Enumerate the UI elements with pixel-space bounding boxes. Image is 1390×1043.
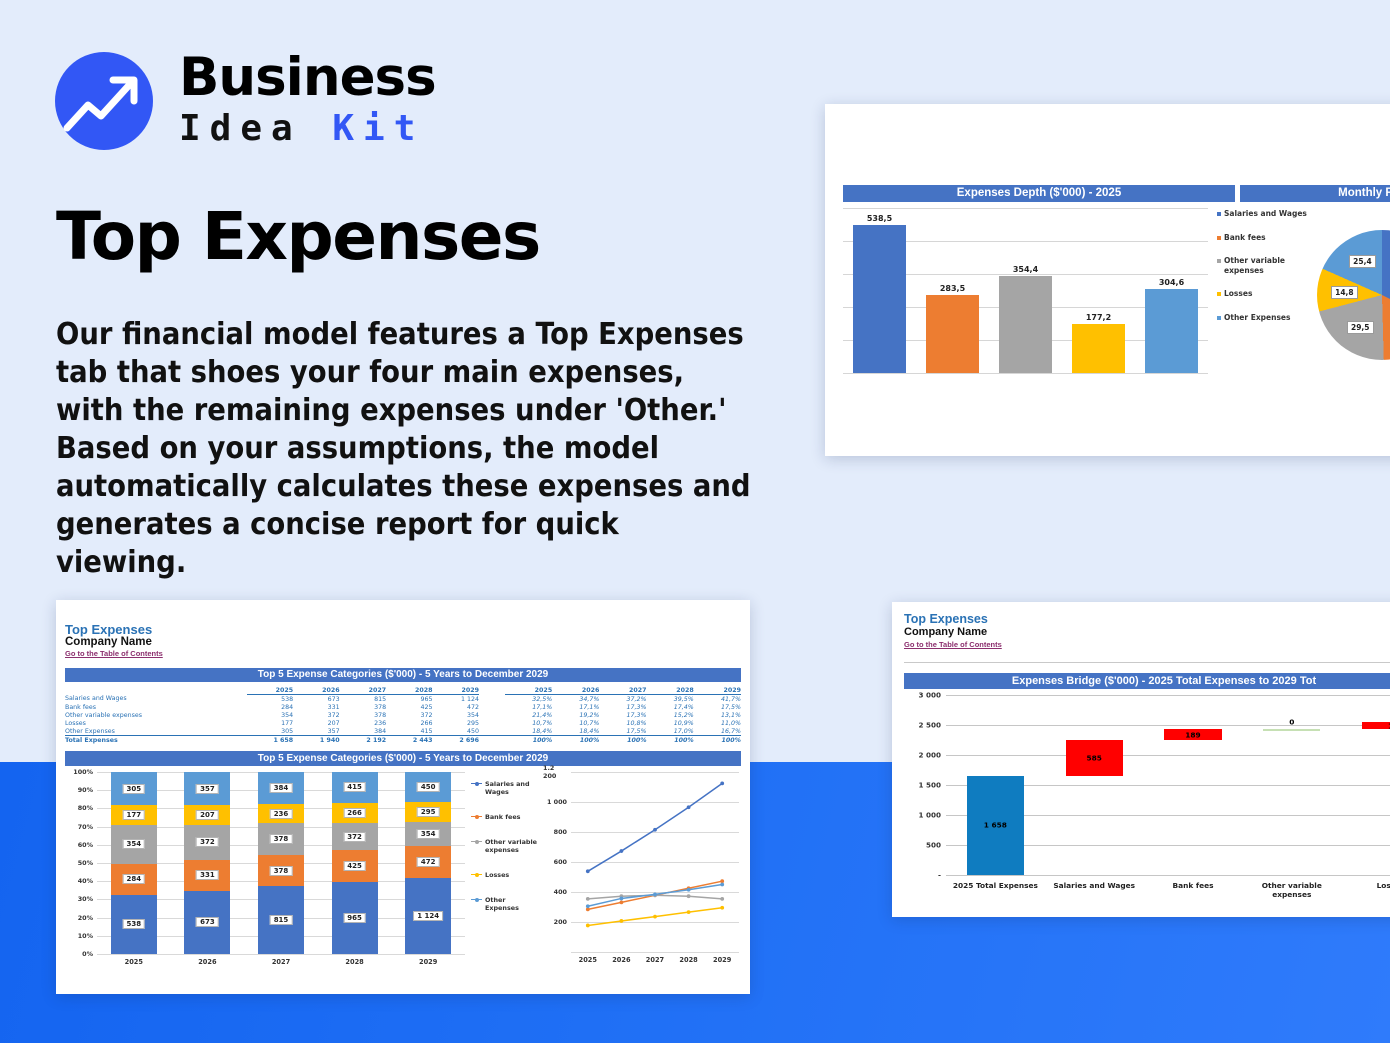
y-tick-label: 2 000 <box>918 751 941 760</box>
cell-value: 207 <box>293 719 339 727</box>
segment-value-label: 354 <box>417 829 440 839</box>
segment-value-label: 266 <box>343 808 366 818</box>
cell-pct: 17,3% <box>599 703 646 711</box>
cell-pct: 17,0% <box>647 727 694 736</box>
segment-value-label: 331 <box>196 870 219 880</box>
y-tick-label: - <box>938 871 941 880</box>
y-tick-label: 70% <box>78 823 93 831</box>
top5-expense-table: 2025202620272028202920252026202720282029… <box>65 686 741 744</box>
cell-value: 2 696 <box>433 736 479 745</box>
cell-value: 965 <box>386 695 432 704</box>
y-tick-label: 60% <box>78 841 93 849</box>
gridline <box>843 373 1208 374</box>
brand-idea-text: Idea <box>179 108 332 149</box>
y-tick-label: 50% <box>78 859 93 867</box>
pie-value-label: 29,5 <box>1347 321 1374 334</box>
cell-pct: 10,7% <box>505 719 552 727</box>
cell-value: 378 <box>340 711 386 719</box>
company-name: Company Name <box>65 636 152 648</box>
legend-item: Bank fees <box>471 813 541 821</box>
segment-value-label: 815 <box>270 915 293 925</box>
legend-label: Bank fees <box>1224 233 1266 243</box>
legend-line-marker <box>471 814 482 819</box>
table-row: Bank fees28433137842547217,1%17,1%17,3%1… <box>65 703 741 711</box>
line-plot-area <box>571 772 739 952</box>
segment-value-label: 177 <box>122 810 145 820</box>
x-tick-label: 2029 <box>705 956 739 964</box>
waterfall-y-axis: -5001 0001 5002 0002 5003 000 <box>904 695 944 875</box>
cell-value: 538 <box>247 695 293 704</box>
row-label: Other Expenses <box>65 727 247 736</box>
cell-pct: 16,7% <box>694 727 741 736</box>
stack-segment: 372 <box>332 823 378 851</box>
x-tick-label: 2027 <box>638 956 672 964</box>
stack-segment: 472 <box>405 846 451 878</box>
stack-segment: 236 <box>258 804 304 824</box>
waterfall-bar-salaries-and-wages: 585 <box>1066 740 1123 775</box>
x-tick-label: 2029 <box>405 958 451 966</box>
gridline <box>843 208 1208 209</box>
bar-value-label: 304,6 <box>1135 278 1208 287</box>
legend-item: Salaries and Wages <box>1217 209 1313 219</box>
line-y-axis: 2004006008001 0001.2 200 <box>543 772 569 952</box>
waterfall-bar-other-variable-expenses: 0 <box>1263 729 1320 731</box>
stacked-bar-2028: 415266372425965 <box>332 772 378 954</box>
y-tick-label: 1 000 <box>547 798 567 806</box>
waterfall-bar-losses: 1 <box>1362 722 1390 729</box>
toc-link[interactable]: Go to the Table of Contents <box>65 649 163 658</box>
cell-pct: 18,4% <box>505 727 552 736</box>
stacked-bar-2029: 4502953544721 124 <box>405 772 451 954</box>
y-tick-label: 3 000 <box>918 691 941 700</box>
col-header-2028: 2028 <box>386 686 432 695</box>
legend-label: Losses <box>485 871 509 879</box>
stack-segment: 207 <box>184 805 230 824</box>
y-tick-label: 90% <box>78 786 93 794</box>
legend-item: Other variable expenses <box>471 838 541 854</box>
waterfall-bar-bank-fees: 189 <box>1164 729 1221 740</box>
stack-segment: 266 <box>332 803 378 823</box>
bar-bank-fees <box>926 295 979 373</box>
waterfall-chart: -5001 0001 5002 0002 5003 000 1 6582025 … <box>904 695 1390 905</box>
y-tick-label: 80% <box>78 804 93 812</box>
x-tick-label: 2025 Total Expenses <box>946 881 1045 890</box>
cell-value: 1 940 <box>293 736 339 745</box>
legend-expenses-depth: Salaries and WagesBank feesOther variabl… <box>1217 209 1313 336</box>
cell-pct: 17,3% <box>599 711 646 719</box>
legend-item: Losses <box>1217 289 1313 299</box>
x-tick-label: 2025 <box>571 956 605 964</box>
stack-segment: 965 <box>332 882 378 954</box>
stack-segment: 673 <box>184 891 230 954</box>
segment-value-label: 236 <box>270 809 293 819</box>
bar-value-label: 354,4 <box>989 265 1062 274</box>
stack-segment: 538 <box>111 895 157 954</box>
table-body: Salaries and Wages5386738159651 12432,5%… <box>65 695 741 745</box>
x-tick-label: Losses <box>1341 881 1390 890</box>
toc-link[interactable]: Go to the Table of Contents <box>904 640 1002 649</box>
gridline <box>571 952 739 953</box>
row-label: Total Expenses <box>65 736 247 745</box>
stacked-y-axis: 0%10%20%30%40%50%60%70%80%90%100% <box>65 772 95 954</box>
col-header-pct-2028: 2028 <box>647 686 694 695</box>
cell-value: 2 192 <box>340 736 386 745</box>
stacked-bar-chart: 0%10%20%30%40%50%60%70%80%90%100% 305177… <box>65 772 465 982</box>
legend-line-marker <box>471 839 482 844</box>
col-header-2029: 2029 <box>433 686 479 695</box>
cell-value: 450 <box>433 727 479 736</box>
cell-value: 372 <box>386 711 432 719</box>
cell-value: 815 <box>340 695 386 704</box>
cell-value: 673 <box>293 695 339 704</box>
bar-losses <box>1072 324 1125 373</box>
legend-item: Bank fees <box>1217 233 1313 243</box>
legend-swatch <box>1217 212 1221 216</box>
chart-title-expenses-bridge: Expenses Bridge ($'000) - 2025 Total Exp… <box>904 673 1390 689</box>
legend-label: Other Expenses <box>1224 313 1290 323</box>
segment-value-label: 305 <box>122 784 145 794</box>
brand-kit-text: Kit <box>332 108 424 149</box>
cell-value: 372 <box>293 711 339 719</box>
legend-item: Other Expenses <box>1217 313 1313 323</box>
waterfall-value-label: 0 <box>1289 718 1294 727</box>
pie-chart-monthly-run-rate: 44,923,629,514,825,4 <box>1317 230 1390 360</box>
table-total-row: Total Expenses1 6581 9402 1922 4432 6961… <box>65 736 741 745</box>
x-tick-label: 2026 <box>184 958 230 966</box>
segment-value-label: 425 <box>343 861 366 871</box>
segment-value-label: 965 <box>343 913 366 923</box>
cell-pct: 100% <box>647 736 694 745</box>
gridline <box>946 755 1390 756</box>
cell-value: 357 <box>293 727 339 736</box>
cell-pct: 41,7% <box>694 695 741 704</box>
bar-other-expenses <box>1145 289 1198 373</box>
pie-value-label: 14,8 <box>1331 286 1358 299</box>
cell-pct: 100% <box>505 736 552 745</box>
table-row: Other Expenses30535738441545018,4%18,4%1… <box>65 727 741 736</box>
legend-label: Losses <box>1224 289 1252 299</box>
segment-value-label: 207 <box>196 810 219 820</box>
bar-chart-expenses-depth: 538,5283,5354,4177,2304,6 <box>843 208 1208 373</box>
y-tick-label: 1 500 <box>918 781 941 790</box>
screenshot-panel-expenses-bridge: Top Expenses Company Name Go to the Tabl… <box>892 602 1390 917</box>
y-tick-label: 40% <box>78 877 93 885</box>
cell-pct: 100% <box>599 736 646 745</box>
cell-value: 425 <box>386 703 432 711</box>
waterfall-plot-area: 1 6582025 Total Expenses585Salaries and … <box>946 695 1390 875</box>
cell-value: 295 <box>433 719 479 727</box>
legend-line-marker <box>471 781 482 786</box>
gridline <box>97 954 465 955</box>
cell-pct: 32,5% <box>505 695 552 704</box>
col-header-2027: 2027 <box>340 686 386 695</box>
stack-segment: 331 <box>184 860 230 891</box>
stack-segment: 415 <box>332 772 378 803</box>
stacked-bar-2025: 305177354284538 <box>111 772 157 954</box>
table-row: Other variable expenses35437237837235421… <box>65 711 741 719</box>
segment-value-label: 450 <box>417 782 440 792</box>
stack-segment: 295 <box>405 802 451 822</box>
chart-title-top5-categories: Top 5 Expense Categories ($'000) - 5 Yea… <box>65 751 741 766</box>
segment-value-label: 357 <box>196 784 219 794</box>
table-header-row: 2025202620272028202920252026202720282029 <box>65 686 741 695</box>
segment-value-label: 372 <box>343 832 366 842</box>
legend-label: Bank fees <box>485 813 520 821</box>
brand-name-bottom: Idea Kit <box>179 108 436 150</box>
bar-value-label: 177,2 <box>1062 313 1135 322</box>
cell-value: 1 658 <box>247 736 293 745</box>
stacked-bar-2027: 384236378378815 <box>258 772 304 954</box>
col-header-pct-2026: 2026 <box>552 686 599 695</box>
brand-logo: Business Idea Kit <box>55 48 475 158</box>
waterfall-value-label: 1 658 <box>984 821 1007 830</box>
table-title-band: Top 5 Expense Categories ($'000) - 5 Yea… <box>65 668 741 682</box>
waterfall-value-label: 585 <box>1086 753 1101 762</box>
x-tick-label: 2028 <box>332 958 378 966</box>
bar-value-label: 283,5 <box>916 284 989 293</box>
cell-value: 266 <box>386 719 432 727</box>
legend-label: Salaries and Wages <box>485 780 541 796</box>
company-name: Company Name <box>904 626 987 638</box>
cell-value: 236 <box>340 719 386 727</box>
cell-pct: 37,2% <box>599 695 646 704</box>
y-tick-label: 400 <box>554 888 567 896</box>
line-series-svg <box>571 772 739 952</box>
cell-value: 415 <box>386 727 432 736</box>
stack-segment: 450 <box>405 772 451 802</box>
stack-segment: 177 <box>111 805 157 824</box>
cell-pct: 15,2% <box>647 711 694 719</box>
cell-pct: 17,5% <box>599 727 646 736</box>
segment-value-label: 415 <box>343 782 366 792</box>
cell-value: 305 <box>247 727 293 736</box>
legend-item: Other variable expenses <box>1217 256 1313 275</box>
cell-pct: 11,0% <box>694 719 741 727</box>
col-header-pct-2027: 2027 <box>599 686 646 695</box>
segment-value-label: 295 <box>417 807 440 817</box>
stack-segment: 372 <box>184 825 230 860</box>
row-label: Salaries and Wages <box>65 695 247 704</box>
pie-value-label: 25,4 <box>1349 255 1376 268</box>
legend-line-marker <box>471 872 482 877</box>
segment-value-label: 673 <box>196 917 219 927</box>
col-header-pct-2029: 2029 <box>694 686 741 695</box>
y-tick-label: 1.2 200 <box>543 764 567 780</box>
segment-value-label: 472 <box>417 857 440 867</box>
cell-value: 384 <box>340 727 386 736</box>
x-tick-label: 2026 <box>605 956 639 964</box>
y-tick-label: 200 <box>554 918 567 926</box>
cell-value: 354 <box>433 711 479 719</box>
cell-pct: 17,5% <box>694 703 741 711</box>
segment-value-label: 372 <box>196 837 219 847</box>
screenshot-panel-top5-categories: Top Expenses Company Name Go to the Tabl… <box>56 600 750 994</box>
cell-pct: 10,9% <box>647 719 694 727</box>
y-tick-label: 1 000 <box>918 811 941 820</box>
stack-segment: 354 <box>405 822 451 846</box>
legend-item: Salaries and Wages <box>471 780 541 796</box>
stacked-bar-2026: 357207372331673 <box>184 772 230 954</box>
stack-segment: 378 <box>258 823 304 854</box>
y-tick-label: 10% <box>78 932 93 940</box>
x-tick-label: Bank fees <box>1144 881 1243 890</box>
y-tick-label: 600 <box>554 858 567 866</box>
stack-segment: 815 <box>258 886 304 954</box>
brand-name-top: Business <box>179 48 436 108</box>
cell-pct: 39,5% <box>647 695 694 704</box>
sheet-title: Top Expenses <box>65 622 152 637</box>
cell-value: 2 443 <box>386 736 432 745</box>
cell-pct: 100% <box>694 736 741 745</box>
line-chart-expenses: 2004006008001 0001.2 200 202520262027202… <box>543 772 741 984</box>
segment-value-label: 384 <box>270 783 293 793</box>
gridline <box>946 725 1390 726</box>
legend-line-marker <box>471 897 482 902</box>
legend-item: Other Expenses <box>471 896 541 912</box>
segment-value-label: 284 <box>122 874 145 884</box>
col-header-pct-2025: 2025 <box>505 686 552 695</box>
legend-line-chart: Salaries and WagesBank feesOther variabl… <box>471 780 541 929</box>
stack-segment: 425 <box>332 850 378 882</box>
row-label: Bank fees <box>65 703 247 711</box>
bar-other-variable-expenses <box>999 276 1052 373</box>
y-tick-label: 2 500 <box>918 721 941 730</box>
bar-value-label: 538,5 <box>843 214 916 223</box>
x-tick-label: 2028 <box>672 956 706 964</box>
segment-value-label: 378 <box>270 834 293 844</box>
segment-value-label: 378 <box>270 866 293 876</box>
cell-pct: 10,8% <box>599 719 646 727</box>
stack-segment: 354 <box>111 825 157 864</box>
x-tick-label: Salaries and Wages <box>1045 881 1144 890</box>
chart-title-monthly-run-rate: Monthly Run-Rate ($'000 <box>1240 185 1390 202</box>
divider <box>904 662 1390 663</box>
legend-swatch <box>1217 292 1221 296</box>
legend-label: Other variable expenses <box>1224 256 1313 275</box>
row-label: Other variable expenses <box>65 711 247 719</box>
stack-segment: 357 <box>184 772 230 805</box>
x-tick-label: Other variable expenses <box>1242 881 1341 899</box>
cell-pct: 100% <box>552 736 599 745</box>
legend-label: Other Expenses <box>485 896 541 912</box>
gridline <box>946 695 1390 696</box>
gridline <box>946 875 1390 876</box>
chart-title-expenses-depth: Expenses Depth ($'000) - 2025 <box>843 185 1235 202</box>
col-header-2026: 2026 <box>293 686 339 695</box>
y-tick-label: 0% <box>82 950 93 958</box>
segment-value-label: 354 <box>122 839 145 849</box>
cell-pct: 34,7% <box>552 695 599 704</box>
stacked-plot-area: 3051773542845382025357207372331673202638… <box>97 772 465 954</box>
screenshot-panel-expenses-depth: Expenses Depth ($'000) - 2025 Monthly Ru… <box>825 104 1390 456</box>
cell-value: 354 <box>247 711 293 719</box>
waterfall-value-label: 189 <box>1185 730 1200 739</box>
stack-segment: 378 <box>258 855 304 886</box>
cell-pct: 21,4% <box>505 711 552 719</box>
waterfall-bar-2025-total-expenses: 1 658 <box>967 776 1024 875</box>
stack-segment: 1 124 <box>405 878 451 954</box>
hero-description: Our financial model features a Top Expen… <box>56 316 756 582</box>
uptrend-arrow-circle-icon <box>55 52 153 150</box>
sheet-title: Top Expenses <box>904 612 988 626</box>
segment-value-label: 538 <box>122 919 145 929</box>
x-tick-label: 2025 <box>111 958 157 966</box>
stack-segment: 284 <box>111 864 157 895</box>
page-title: Top Expenses <box>56 198 540 275</box>
cell-value: 284 <box>247 703 293 711</box>
table-row: Salaries and Wages5386738159651 12432,5%… <box>65 695 741 704</box>
cell-value: 472 <box>433 703 479 711</box>
x-tick-label: 2027 <box>258 958 304 966</box>
y-tick-label: 500 <box>926 841 941 850</box>
row-label: Losses <box>65 719 247 727</box>
stack-segment: 384 <box>258 772 304 804</box>
cell-pct: 19,2% <box>552 711 599 719</box>
y-tick-label: 800 <box>554 828 567 836</box>
legend-swatch <box>1217 316 1221 320</box>
legend-label: Salaries and Wages <box>1224 209 1307 219</box>
cell-pct: 17,1% <box>505 703 552 711</box>
y-tick-label: 100% <box>73 768 93 776</box>
legend-swatch <box>1217 236 1221 240</box>
cell-value: 331 <box>293 703 339 711</box>
stack-segment: 305 <box>111 772 157 805</box>
cell-pct: 13,1% <box>694 711 741 719</box>
cell-value: 1 124 <box>433 695 479 704</box>
legend-item: Losses <box>471 871 541 879</box>
legend-label: Other variable expenses <box>485 838 541 854</box>
legend-swatch <box>1217 259 1221 263</box>
cell-pct: 18,4% <box>552 727 599 736</box>
cell-value: 177 <box>247 719 293 727</box>
cell-pct: 17,4% <box>647 703 694 711</box>
bar-salaries-and-wages <box>853 225 906 373</box>
y-tick-label: 30% <box>78 895 93 903</box>
cell-value: 378 <box>340 703 386 711</box>
cell-pct: 10,7% <box>552 719 599 727</box>
segment-value-label: 1 124 <box>413 911 443 921</box>
cell-pct: 17,1% <box>552 703 599 711</box>
col-header-2025: 2025 <box>247 686 293 695</box>
table-row: Losses17720723626629510,7%10,7%10,8%10,9… <box>65 719 741 727</box>
y-tick-label: 20% <box>78 914 93 922</box>
